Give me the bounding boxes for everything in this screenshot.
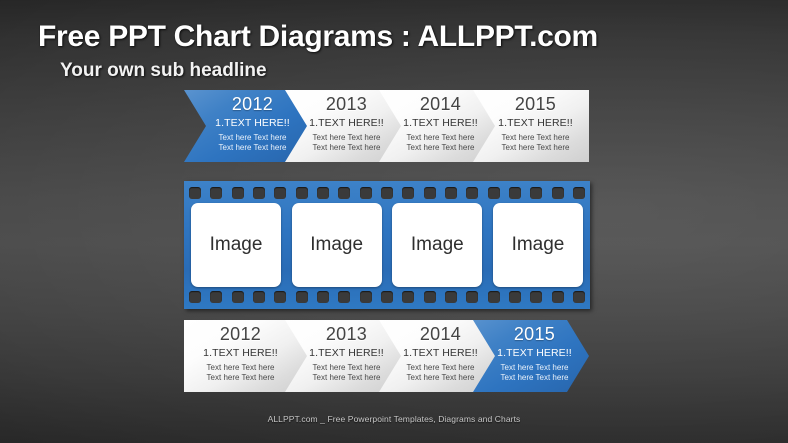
film-sprocket-hole bbox=[317, 187, 329, 199]
chevron-body-line: Text here Text here bbox=[292, 373, 401, 383]
timeline-chevron-2012[interactable]: 20121.TEXT HERE!!Text here Text hereText… bbox=[184, 320, 307, 392]
chevron-body-line: Text here Text here bbox=[386, 373, 495, 383]
film-sprocket-hole bbox=[296, 187, 308, 199]
film-sprocket-hole bbox=[338, 187, 350, 199]
chevron-body: Text here Text hereText here Text here bbox=[184, 133, 307, 153]
film-sprocket-hole bbox=[424, 291, 436, 303]
film-sprocket-hole bbox=[552, 291, 564, 303]
film-sprocket-hole bbox=[189, 187, 201, 199]
film-sprocket-hole bbox=[360, 187, 372, 199]
chevron-body-line: Text here Text here bbox=[482, 143, 589, 153]
film-sprocket-hole bbox=[445, 291, 457, 303]
chevron-heading: 1.TEXT HERE!! bbox=[184, 116, 307, 131]
chevron-body-line: Text here Text here bbox=[480, 363, 589, 373]
footer-credit: ALLPPT.com _ Free Powerpoint Templates, … bbox=[0, 414, 788, 424]
film-sprocket-hole bbox=[573, 291, 585, 303]
film-frame-placeholder[interactable]: Image bbox=[292, 203, 382, 287]
film-sprocket-hole bbox=[317, 291, 329, 303]
film-sprocket-hole bbox=[488, 187, 500, 199]
chevron-body-line: Text here Text here bbox=[198, 133, 307, 143]
film-sprocket-hole bbox=[232, 187, 244, 199]
film-sprocket-hole bbox=[466, 291, 478, 303]
film-strip: ImageImageImageImage bbox=[184, 181, 590, 309]
film-frame-placeholder[interactable]: Image bbox=[493, 203, 583, 287]
film-sprocket-hole bbox=[232, 291, 244, 303]
chevron-body-line: Text here Text here bbox=[184, 363, 297, 373]
film-sprocket-hole bbox=[552, 187, 564, 199]
timeline-row-top: 20121.TEXT HERE!!Text here Text hereText… bbox=[184, 90, 604, 162]
timeline-row-bottom: 20121.TEXT HERE!!Text here Text hereText… bbox=[184, 320, 604, 392]
chevron-body-line: Text here Text here bbox=[292, 363, 401, 373]
film-frame-placeholder[interactable]: Image bbox=[191, 203, 281, 287]
film-sprocket-hole bbox=[424, 187, 436, 199]
film-sprocket-hole bbox=[338, 291, 350, 303]
film-sprocket-hole bbox=[488, 291, 500, 303]
film-sprocket-hole bbox=[573, 187, 585, 199]
film-sprocket-hole bbox=[296, 291, 308, 303]
chevron-body-line: Text here Text here bbox=[386, 143, 495, 153]
film-sprocket-hole bbox=[253, 291, 265, 303]
film-sprocket-hole bbox=[530, 291, 542, 303]
film-sprocket-hole bbox=[509, 291, 521, 303]
page-title: Free PPT Chart Diagrams : ALLPPT.com bbox=[38, 20, 598, 54]
chevron-heading: 1.TEXT HERE!! bbox=[184, 346, 307, 361]
film-sprocket-hole bbox=[381, 187, 393, 199]
chevron-year: 2012 bbox=[184, 324, 307, 345]
film-sprocket-hole bbox=[253, 187, 265, 199]
chevron-body-line: Text here Text here bbox=[386, 363, 495, 373]
film-sprocket-hole bbox=[189, 291, 201, 303]
film-frame-list: ImageImageImageImage bbox=[184, 203, 590, 287]
timeline-chevron-2012[interactable]: 20121.TEXT HERE!!Text here Text hereText… bbox=[184, 90, 307, 162]
chevron-body-line: Text here Text here bbox=[292, 133, 401, 143]
film-sprocket-hole bbox=[381, 291, 393, 303]
film-sprocket-hole bbox=[274, 187, 286, 199]
page-subtitle: Your own sub headline bbox=[60, 60, 267, 82]
film-sprocket-hole bbox=[360, 291, 372, 303]
film-frame-placeholder[interactable]: Image bbox=[392, 203, 482, 287]
film-sprocket-hole bbox=[210, 291, 222, 303]
film-sprocket-hole bbox=[445, 187, 457, 199]
chevron-body-line: Text here Text here bbox=[184, 373, 297, 383]
film-sprocket-hole bbox=[530, 187, 542, 199]
film-sprocket-hole bbox=[274, 291, 286, 303]
film-sprocket-hole bbox=[466, 187, 478, 199]
sprocket-row-top bbox=[184, 185, 590, 201]
chevron-body-line: Text here Text here bbox=[482, 133, 589, 143]
chevron-body-line: Text here Text here bbox=[198, 143, 307, 153]
chevron-body-line: Text here Text here bbox=[292, 143, 401, 153]
chevron-body-line: Text here Text here bbox=[386, 133, 495, 143]
film-sprocket-hole bbox=[210, 187, 222, 199]
chevron-body-line: Text here Text here bbox=[480, 373, 589, 383]
sprocket-row-bottom bbox=[184, 289, 590, 305]
chevron-year: 2012 bbox=[184, 94, 307, 115]
slide-canvas: Free PPT Chart Diagrams : ALLPPT.com You… bbox=[0, 0, 788, 443]
film-sprocket-hole bbox=[402, 187, 414, 199]
film-sprocket-hole bbox=[402, 291, 414, 303]
chevron-body: Text here Text hereText here Text here bbox=[184, 363, 307, 383]
film-sprocket-hole bbox=[509, 187, 521, 199]
